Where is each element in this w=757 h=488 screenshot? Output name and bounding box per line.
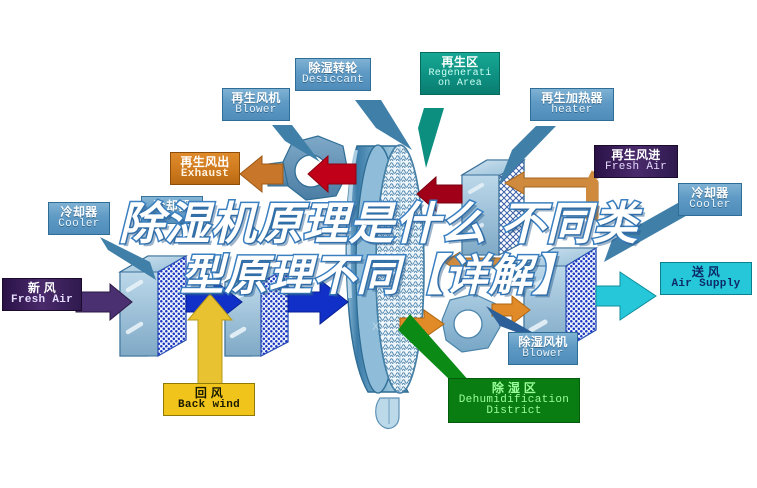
diagram-canvas: XT 除湿转轮 Desiccant 再生风机 Blower 再生区 Regene… [0,0,757,488]
label-back-wind-en: Back wind [166,400,252,412]
process-arrow-2 [288,280,348,324]
label-regen-area-en2: on Area [423,79,497,90]
label-cooler-left-a-cn: 冷却器 [51,206,107,219]
label-air-supply-en: Air Supply [663,279,749,291]
label-dehum-district: 除 湿 区 Dehumidification District [448,378,580,423]
cooler-coil-2 [225,268,288,356]
label-air-supply-cn: 送 风 [663,266,749,279]
label-regen-exhaust-cn: 再生风出 [173,156,237,169]
label-dehum-district-cn: 除 湿 区 [451,382,577,395]
label-dehum-blower: 除湿风机 Blower [508,332,578,365]
label-cooler-left-b: 冷却器 [141,196,203,224]
label-dehum-district-en2: District [451,406,577,418]
label-cooler-right-en: Cooler [681,200,739,212]
label-fresh-air-in: 新 风 Fresh Air [2,278,82,311]
exhaust-arrow [240,156,283,192]
label-regen-heater-en: heater [533,105,611,117]
label-air-supply: 送 风 Air Supply [660,262,752,295]
label-fresh-air-in-cn: 新 风 [5,282,79,295]
label-regen-blower: 再生风机 Blower [222,88,290,121]
label-regen-heater: 再生加热器 heater [530,88,614,121]
label-regen-fresh-air-cn: 再生风进 [597,149,675,162]
label-desiccant-wheel: 除湿转轮 Desiccant [295,58,371,91]
label-cooler-right: 冷却器 Cooler [678,183,742,216]
label-regen-blower-en: Blower [225,105,287,117]
label-back-wind: 回 风 Back wind [163,383,255,416]
diagram-graphics: XT [0,0,757,488]
label-cooler-left-a: 冷却器 Cooler [48,202,110,235]
heater-feed-arrow [505,172,592,194]
label-regen-exhaust-en: Exhaust [173,169,237,181]
label-desiccant-wheel-en: Desiccant [298,75,368,87]
label-regen-fresh-air-en: Fresh Air [597,162,675,174]
label-regen-fresh-air: 再生风进 Fresh Air [594,145,678,178]
label-cooler-right-cn: 冷却器 [681,187,739,200]
watermark-text: XT [372,321,386,333]
label-fresh-air-in-en: Fresh Air [5,295,79,307]
label-regen-blower-cn: 再生风机 [225,92,287,105]
label-desiccant-wheel-cn: 除湿转轮 [298,62,368,75]
label-cooler-left-b-cn: 冷却器 [144,200,200,213]
desiccant-rotor [346,145,424,428]
label-dehum-blower-en: Blower [511,349,575,361]
supply-arrow [596,272,656,320]
label-back-wind-cn: 回 风 [166,387,252,400]
label-regen-exhaust: 再生风出 Exhaust [170,152,240,185]
label-regen-heater-cn: 再生加热器 [533,92,611,105]
heater-coil [462,160,524,255]
dehum-fan-housing [442,294,500,352]
regen-hot-arrow-2 [417,177,462,211]
label-regen-area: 再生区 Regenerati on Area [420,52,500,95]
label-dehum-blower-cn: 除湿风机 [511,336,575,349]
label-regen-area-cn: 再生区 [423,56,497,69]
label-cooler-left-a-en: Cooler [51,219,107,231]
